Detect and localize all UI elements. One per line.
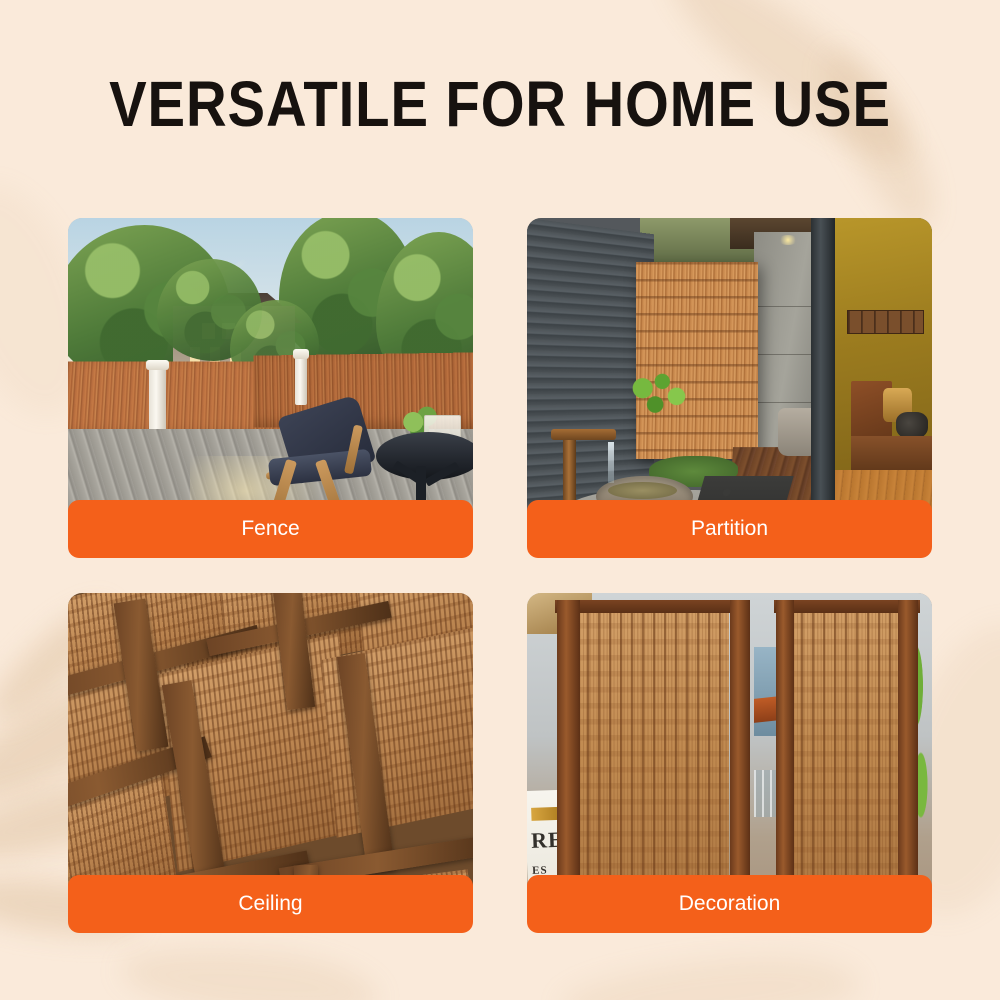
screen-frame-top [555,600,749,614]
use-case-card-decoration[interactable]: RE ES Decoration [527,593,932,933]
use-case-card-fence[interactable]: Fence [68,218,473,558]
wall-shelf [847,310,924,334]
card-label-partition[interactable]: Partition [527,500,932,558]
glass-door-frame [811,218,835,538]
use-case-card-ceiling[interactable]: Ceiling [68,593,473,933]
use-case-card-partition[interactable]: Partition [527,218,932,558]
use-case-grid: Fence [68,218,932,933]
maple-branch [616,361,705,429]
reed-screen-panel [790,607,899,920]
card-label-decoration[interactable]: Decoration [527,875,932,933]
promo-page: VERSATILE FOR HOME USE [0,0,1000,1000]
water-stream [608,442,614,483]
card-label-fence[interactable]: Fence [68,500,473,558]
page-title: VERSATILE FOR HOME USE [60,72,940,136]
bamboo-water-spout [551,429,616,441]
card-label-ceiling[interactable]: Ceiling [68,875,473,933]
deck-post [295,357,307,405]
